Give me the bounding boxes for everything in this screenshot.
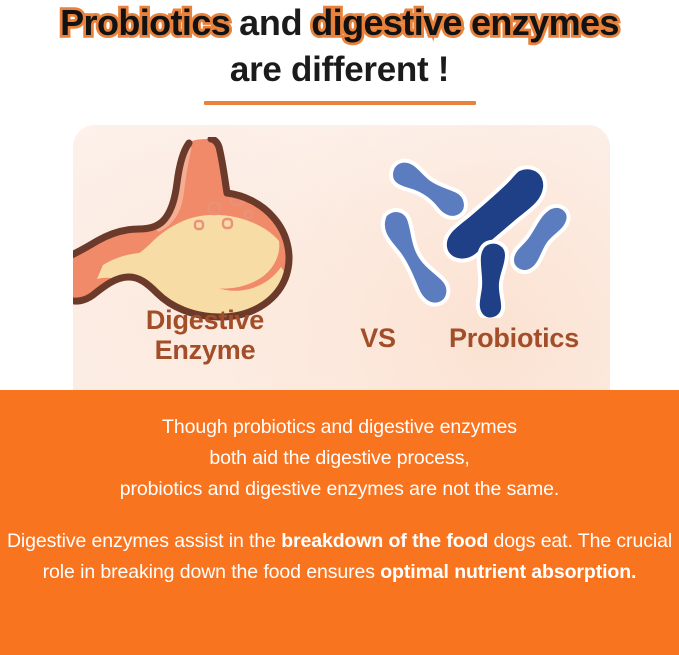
paragraph-one: Though probiotics and digestive enzymes …: [0, 412, 679, 505]
infographic-root: Probioticsanddigestiveenzymes are differ…: [0, 0, 679, 655]
label-digestive-enzyme-line2: Enzyme: [155, 335, 256, 365]
comparison-card-inner: Digestive Enzyme VS Probiotics: [73, 125, 610, 415]
bacteria-icon: [373, 153, 583, 318]
headline-subtitle: are different !: [230, 50, 449, 89]
label-digestive-enzyme-line1: Digestive: [146, 305, 264, 335]
headline-word-and: and: [239, 2, 302, 43]
headline-line-2: are different !: [0, 51, 679, 89]
description-panel: Though probiotics and digestive enzymes …: [0, 390, 679, 655]
paragraph-one-line-2: both aid the digestive process,: [209, 447, 469, 469]
label-probiotics: Probiotics: [421, 323, 607, 353]
paragraph-one-line-1: Though probiotics and digestive enzymes: [162, 416, 517, 438]
comparison-card: Digestive Enzyme VS Probiotics: [73, 125, 610, 415]
stomach-icon: [73, 137, 323, 327]
label-digestive-enzyme: Digestive Enzyme: [85, 305, 325, 365]
headline-line-1: Probioticsanddigestiveenzymes: [0, 4, 679, 43]
paragraph-two: Digestive enzymes assist in the breakdow…: [0, 526, 679, 588]
paragraph-one-line-3: probiotics and digestive enzymes are not…: [120, 478, 559, 500]
headline-word-probiotics: Probiotics: [60, 2, 230, 43]
paragraph-two-bold-2: optimal nutrient absorption.: [380, 561, 636, 583]
paragraph-two-bold-1: breakdown of the food: [281, 530, 488, 552]
headline-word-digestive: digestive: [311, 2, 462, 43]
headline: Probioticsanddigestiveenzymes are differ…: [0, 0, 679, 89]
headline-word-enzymes: enzymes: [471, 2, 619, 43]
paragraph-two-part-1: Digestive enzymes assist in the: [7, 530, 281, 552]
headline-underline: [204, 101, 476, 105]
